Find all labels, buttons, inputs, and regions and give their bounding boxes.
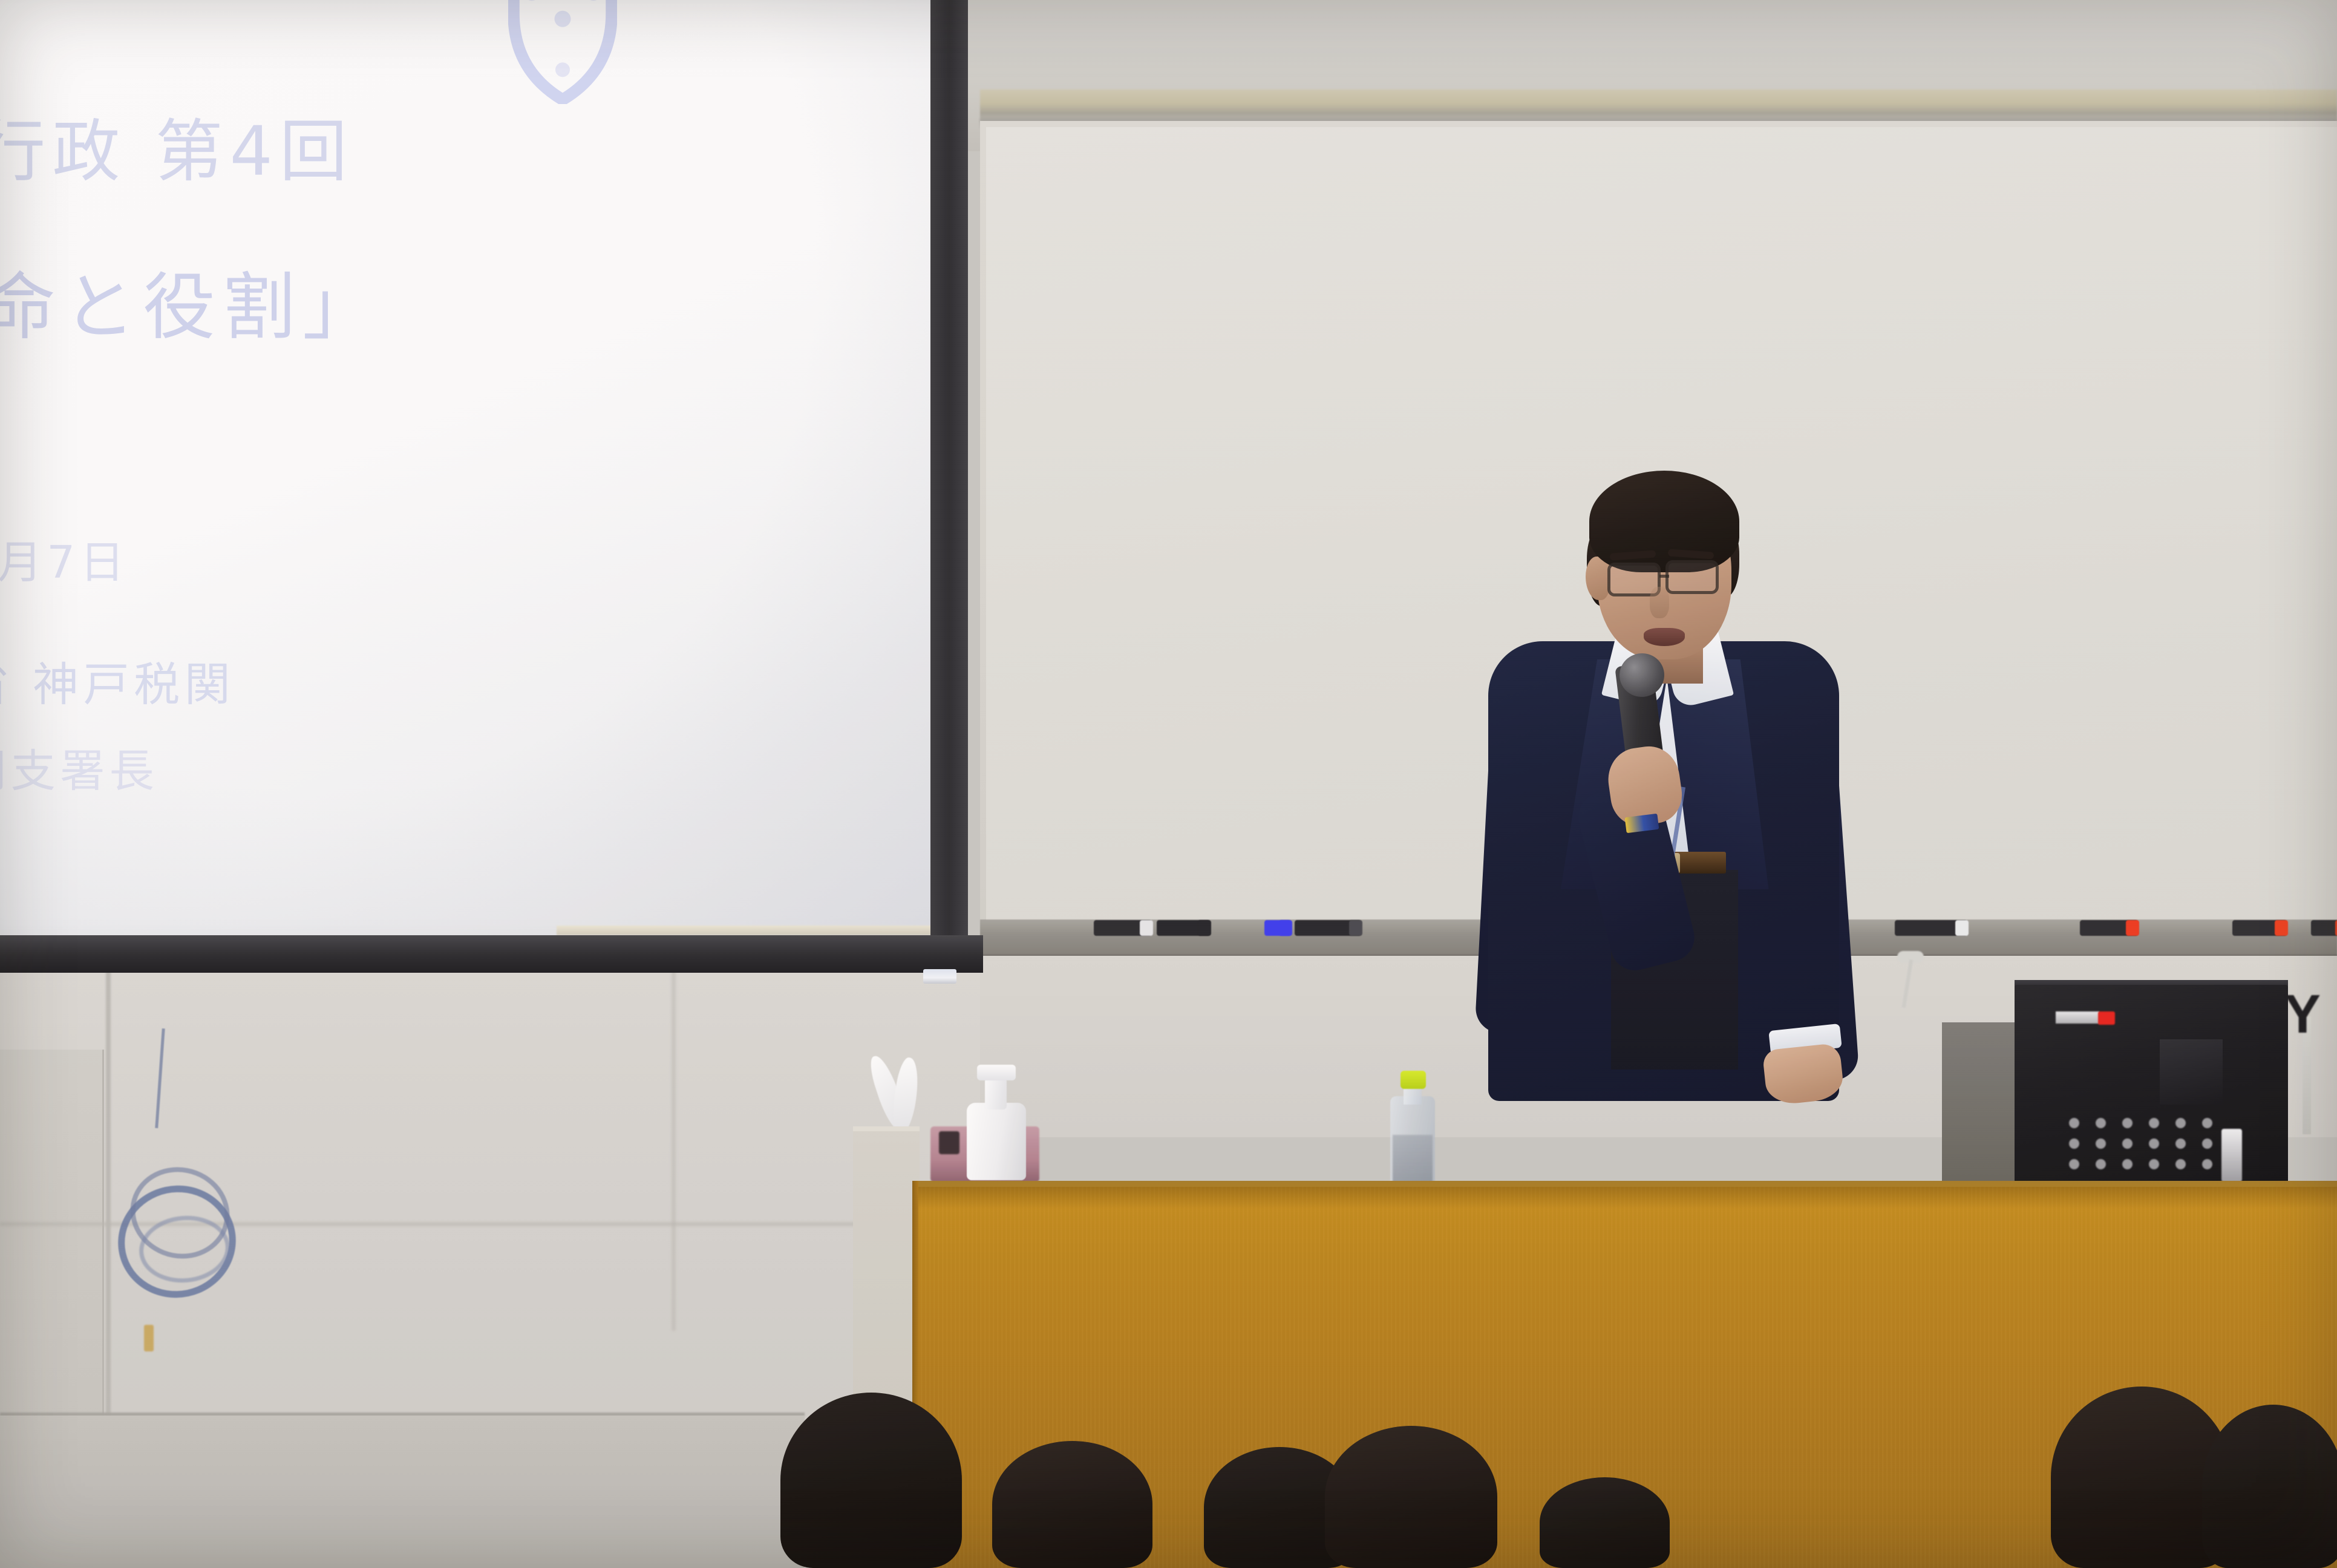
av-rack-label-strip: [2056, 1011, 2099, 1024]
projection-screen-vignette: [0, 0, 956, 941]
speaker-nose: [1650, 587, 1669, 618]
av-button-13[interactable]: [2069, 1159, 2079, 1169]
av-button-5[interactable]: [2175, 1118, 2186, 1128]
speaker-mouth: [1644, 628, 1685, 646]
hand-sanitizer-neck: [985, 1078, 1007, 1109]
av-button-16[interactable]: [2149, 1159, 2159, 1169]
av-button-4[interactable]: [2149, 1118, 2159, 1128]
marker-black-left-cap: [1140, 920, 1153, 936]
water-bottle-label: [1393, 1135, 1433, 1182]
audience-head-4: [1325, 1426, 1497, 1568]
audience-head-7: [2202, 1405, 2337, 1568]
water-bottle: [1390, 1071, 1435, 1186]
marker-blue-cap: [1279, 920, 1292, 936]
av-button-18[interactable]: [2202, 1159, 2212, 1169]
av-display-panel: [2160, 1039, 2223, 1105]
audience-head-5: [1540, 1477, 1670, 1568]
marker-red-2-cap: [2275, 920, 2288, 936]
baseboard: [0, 1416, 805, 1568]
av-button-7[interactable]: [2069, 1138, 2079, 1149]
av-button-14[interactable]: [2096, 1159, 2106, 1169]
projection-screen-bottom-edge-glow: [557, 926, 956, 935]
projection-screen-bottom-bar: [0, 935, 983, 973]
equipment-side-panel: [1942, 1022, 2019, 1184]
wall-seam-vertical-2: [672, 968, 676, 1331]
podium-top-shadow: [912, 1181, 2337, 1209]
av-knob[interactable]: [2221, 1129, 2242, 1182]
marker-red-3[interactable]: [2311, 920, 2337, 936]
water-bottle-cap: [1401, 1071, 1426, 1089]
hand-sanitizer-pump-head[interactable]: [977, 1065, 1016, 1080]
av-button-8[interactable]: [2096, 1138, 2106, 1149]
av-button-3[interactable]: [2122, 1118, 2133, 1128]
marker-black-right-cap: [1955, 920, 1969, 936]
hand-sanitizer-bottle: [967, 1103, 1026, 1180]
av-button-17[interactable]: [2175, 1159, 2186, 1169]
av-power-indicator-icon: [2098, 1011, 2115, 1025]
screen-pull-handle[interactable]: [923, 969, 956, 984]
lecture-hall-photo: Y 融行政 第4回 使命と役割」 年5月7日 務省 神戸税関 税関支署長: [0, 0, 2337, 1568]
av-button-12[interactable]: [2202, 1138, 2212, 1149]
av-button-15[interactable]: [2122, 1159, 2133, 1169]
av-button-10[interactable]: [2149, 1138, 2159, 1149]
av-button-9[interactable]: [2122, 1138, 2133, 1149]
av-button-2[interactable]: [2096, 1118, 2106, 1128]
projection-screen: 融行政 第4回 使命と役割」 年5月7日 務省 神戸税関 税関支署長: [0, 0, 1004, 998]
marker-black-mid-cap: [1349, 920, 1362, 936]
audience-head-2: [992, 1441, 1152, 1568]
marker-black-left2-cap: [1198, 920, 1211, 936]
marker-red-1-cap: [2126, 920, 2139, 936]
wall-rail-trim: [980, 90, 2337, 121]
microphone-stand-head-icon: Y: [2284, 997, 2329, 1038]
projection-screen-frame-right: [930, 0, 968, 956]
guest-speaker: [1455, 460, 1878, 1210]
av-button-11[interactable]: [2175, 1138, 2186, 1149]
av-button-6[interactable]: [2202, 1118, 2212, 1128]
pink-container-detail-left: [939, 1131, 959, 1154]
audience-head-1: [780, 1393, 962, 1568]
av-button-1[interactable]: [2069, 1118, 2079, 1128]
eyeglasses-bridge: [1659, 575, 1669, 578]
cable-connector-tip: [144, 1325, 154, 1351]
wall-panel: [0, 1050, 104, 1437]
eyeglasses-lens-right: [1665, 560, 1719, 594]
